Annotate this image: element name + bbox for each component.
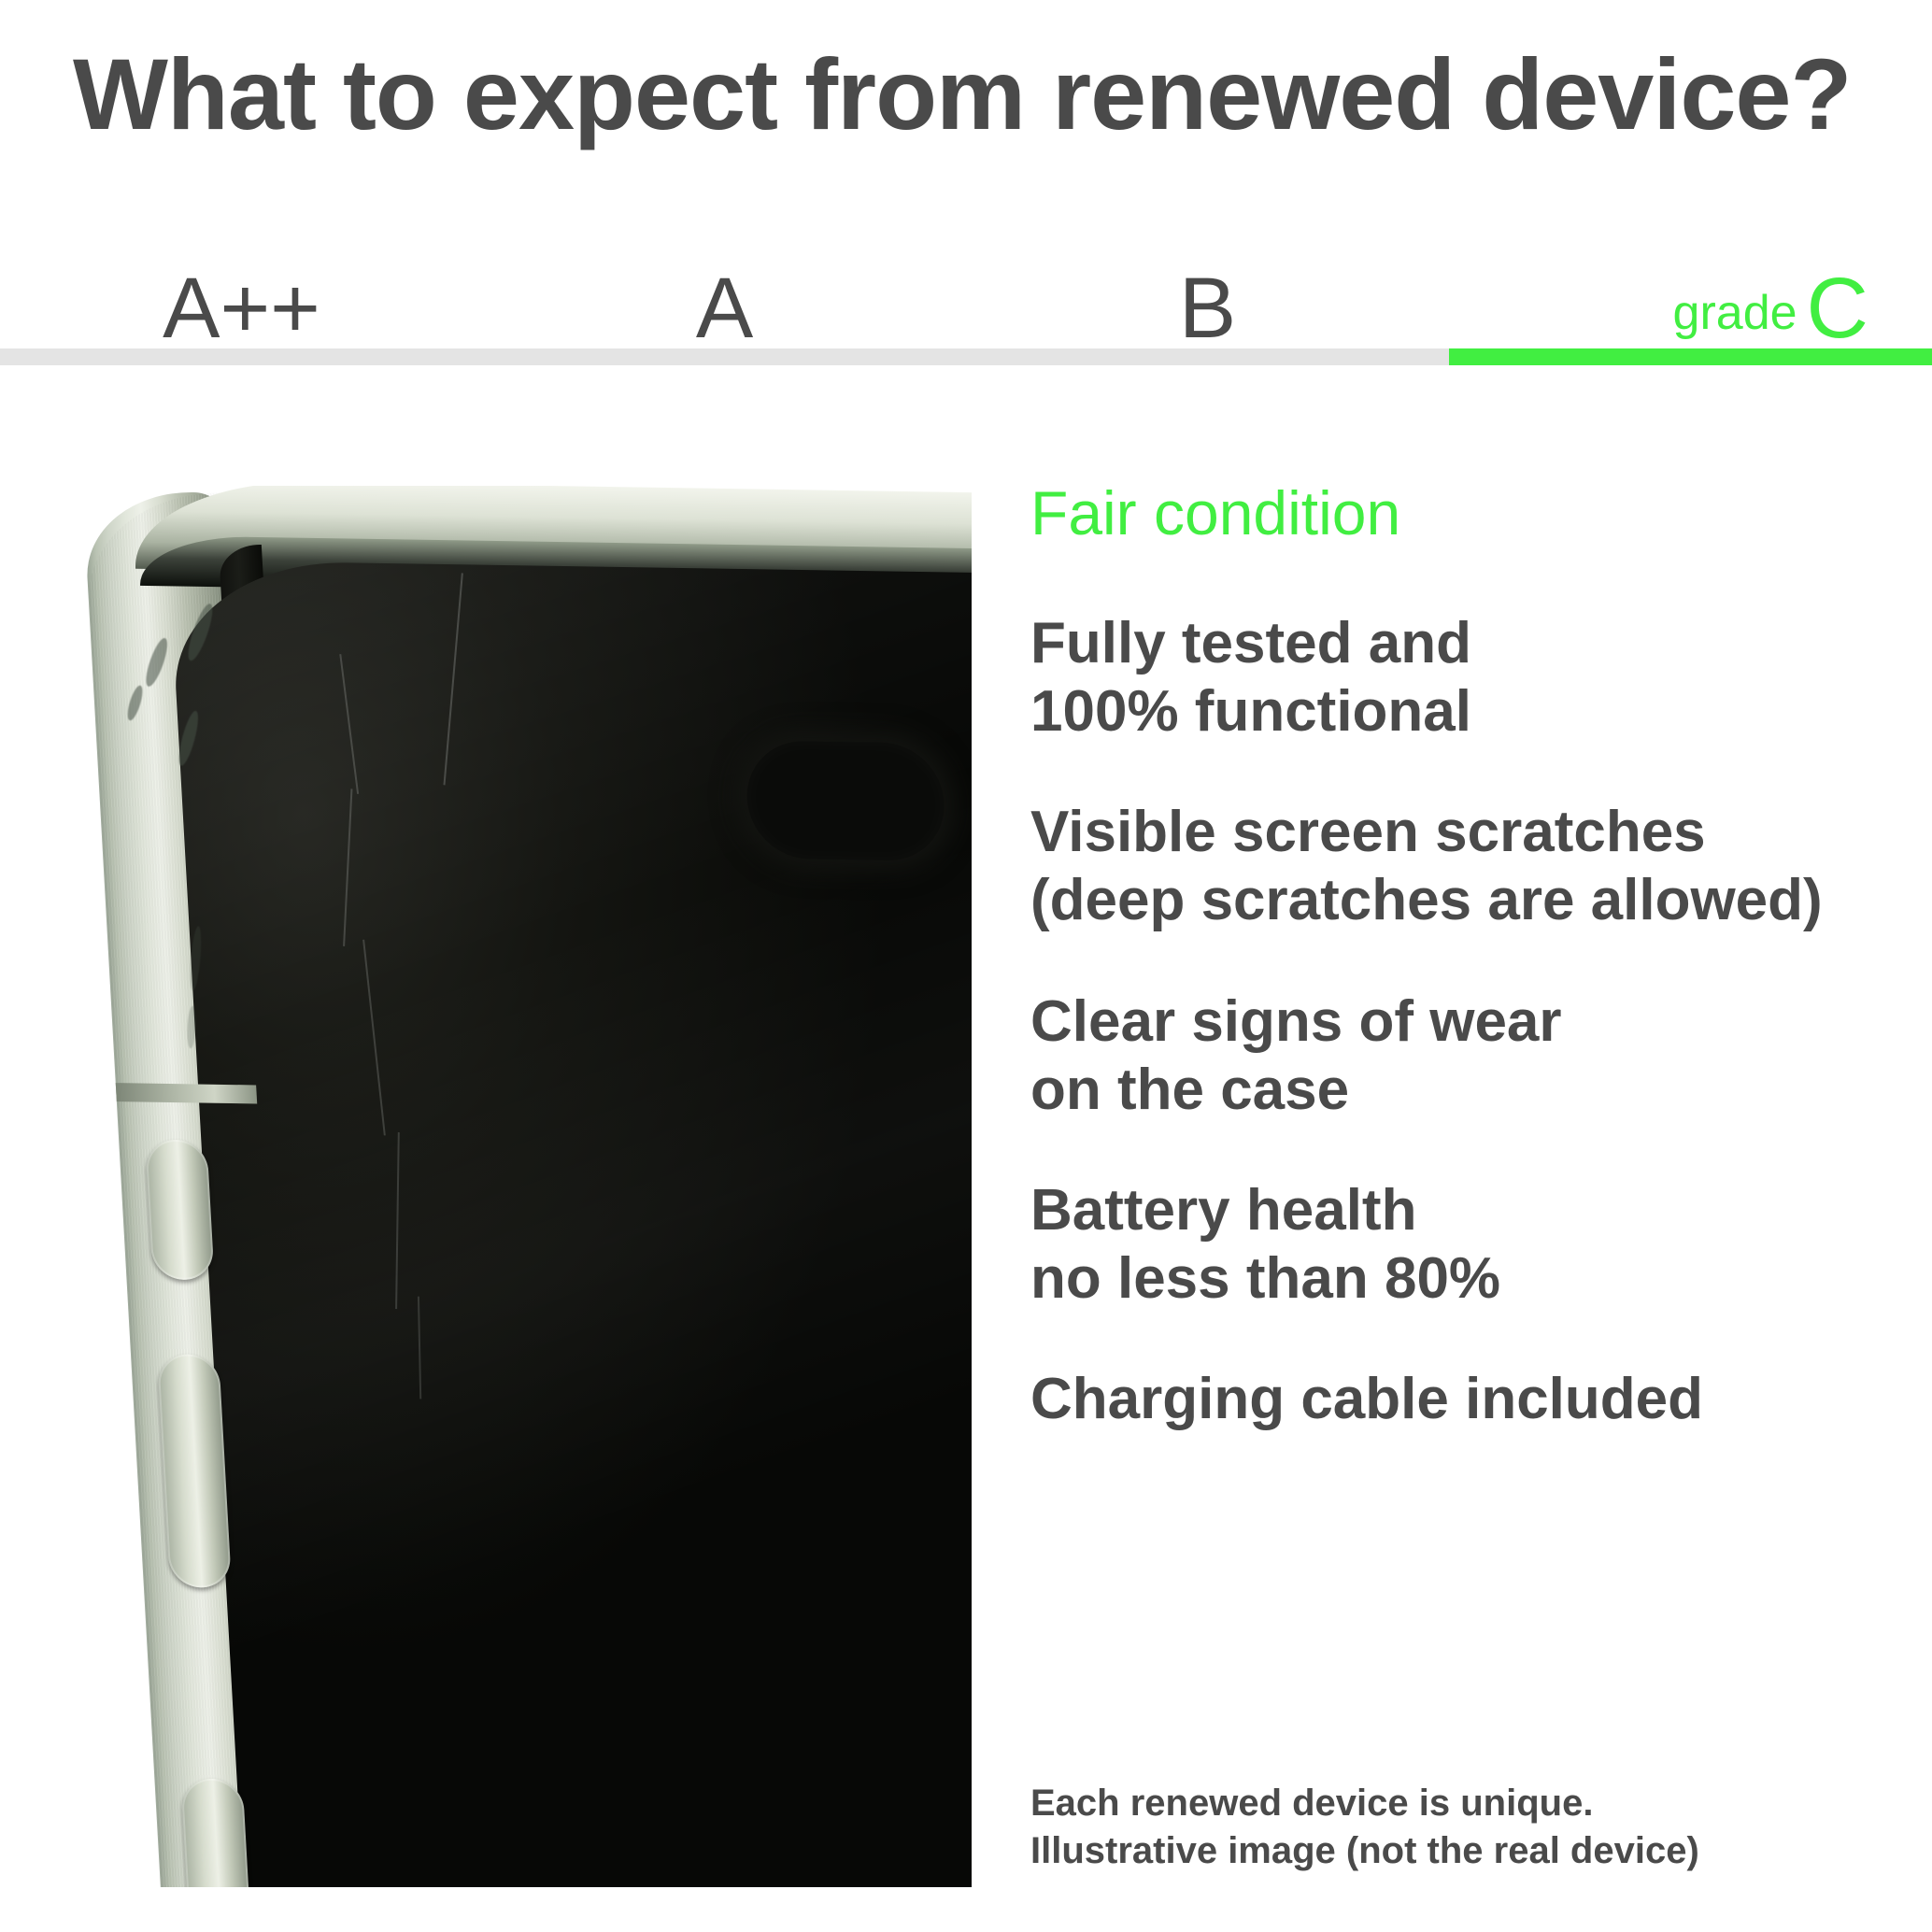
device-illustration xyxy=(75,486,972,1887)
tab-grade-a-plus-plus[interactable]: A++ xyxy=(0,236,483,348)
grade-tabs: A++ A B grade C xyxy=(0,213,1932,364)
tab-grade-c[interactable]: grade C xyxy=(1449,236,1932,348)
dynamic-island xyxy=(744,741,947,861)
feature-item: Fully tested and 100% functional xyxy=(1030,609,1899,746)
device-antenna-band xyxy=(116,1083,257,1103)
page-title: What to expect from renewed device? xyxy=(73,36,1851,152)
volume-down-button xyxy=(157,1354,232,1588)
tab-label-c: C xyxy=(1807,269,1868,348)
feature-item: Clear signs of wear on the case xyxy=(1030,987,1899,1124)
feature-item: Visible screen scratches (deep scratches… xyxy=(1030,798,1899,934)
condition-label: Fair condition xyxy=(1030,482,1899,544)
tab-label-b: B xyxy=(1179,269,1236,348)
tab-grade-a[interactable]: A xyxy=(483,236,966,348)
tab-underline-active xyxy=(1449,348,1932,365)
tab-grade-b[interactable]: B xyxy=(966,236,1449,348)
disclaimer-text: Each renewed device is unique. Illustrat… xyxy=(1030,1780,1899,1875)
volume-up-button xyxy=(145,1139,215,1280)
tab-label-a-plus-plus: A++ xyxy=(163,269,320,348)
feature-item: Battery health no less than 80% xyxy=(1030,1176,1899,1313)
tab-prefix-grade: grade xyxy=(1673,289,1797,337)
feature-item: Charging cable included xyxy=(1030,1365,1899,1433)
tab-label-a: A xyxy=(696,269,753,348)
device-image xyxy=(56,486,972,1887)
grade-details: Fair condition Fully tested and 100% fun… xyxy=(1030,482,1899,1485)
grade-info-card: What to expect from renewed device? A++ … xyxy=(0,0,1932,1932)
